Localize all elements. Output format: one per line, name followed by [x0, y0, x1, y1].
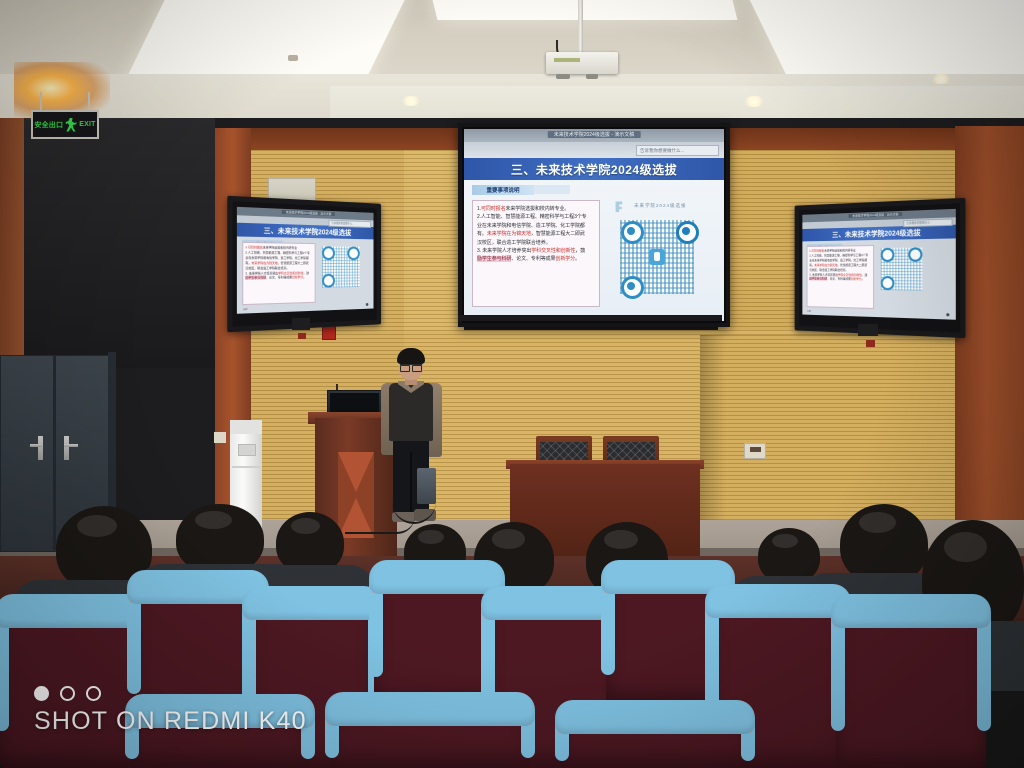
auditorium-seat — [330, 698, 530, 768]
watermark-dot — [34, 686, 49, 701]
watermark-dot — [60, 686, 75, 701]
seat-side — [0, 610, 9, 731]
hair-highlight — [859, 512, 896, 533]
seat-headrest — [325, 692, 535, 726]
seat-headrest — [705, 584, 851, 618]
hair-highlight — [291, 518, 320, 534]
camera-watermark: SHOT ON REDMI K40 — [34, 686, 307, 736]
hair-highlight — [772, 534, 798, 549]
hair-highlight — [418, 530, 444, 545]
seat-side — [831, 610, 845, 731]
watermark-dots — [34, 686, 307, 701]
seat-side — [977, 610, 991, 731]
watermark-text: SHOT ON REDMI K40 — [34, 707, 307, 736]
auditorium-seat — [836, 600, 986, 768]
seat-headrest — [555, 700, 755, 734]
seat-headrest — [242, 586, 382, 620]
audience-area — [0, 0, 1024, 768]
lecture-hall-photo: 安全出口 EXIT 未来技术学院2024级选拔 - 演示文稿 告诉我你想要做什么… — [0, 0, 1024, 768]
auditorium-seat — [560, 706, 750, 768]
hair-highlight — [77, 515, 117, 537]
watermark-dot — [86, 686, 101, 701]
hair-highlight — [195, 511, 232, 529]
seat-headrest — [369, 560, 505, 594]
hair-highlight — [944, 532, 987, 563]
hair-highlight — [492, 529, 526, 548]
seat-headrest — [831, 594, 991, 628]
hair-highlight — [604, 530, 638, 550]
